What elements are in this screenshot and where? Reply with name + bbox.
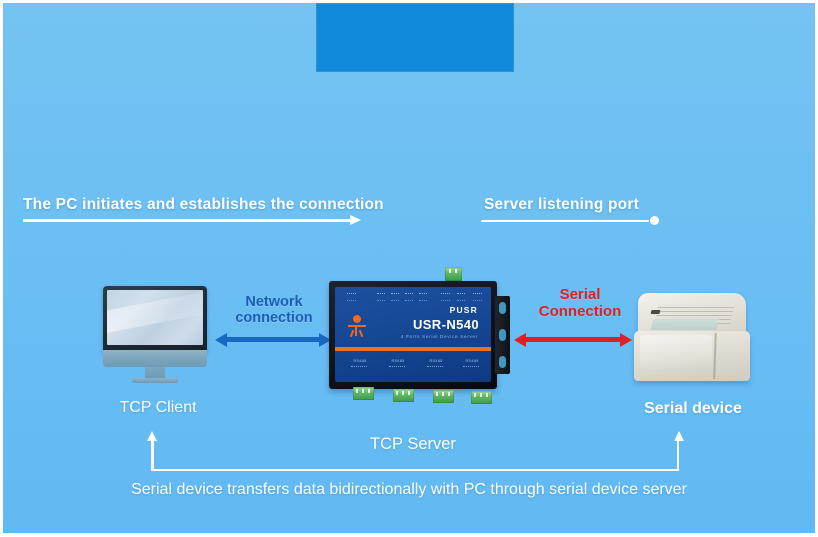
network-label-line2: connection	[219, 310, 329, 326]
annotation-pc-initiates: The PC initiates and establishes the con…	[23, 196, 384, 214]
led-group-5	[419, 293, 427, 301]
line-shaft	[481, 220, 649, 223]
pusr-logo-body-icon	[348, 324, 366, 336]
serial-bidirectional-arrow-icon	[514, 333, 632, 347]
led-group-7	[457, 293, 465, 301]
bracket-right-arrow-head	[674, 431, 684, 441]
led-group-2	[377, 293, 385, 301]
led-group-1	[347, 293, 356, 301]
network-connection-label: Network connection	[219, 294, 329, 326]
tcp-server-span-bracket-icon	[150, 431, 680, 471]
terminal-connector-top	[445, 267, 462, 281]
monitor-screen	[107, 290, 203, 345]
monitor-stand-base	[132, 378, 178, 383]
serial-device-server: PUSR USR-N540 4 Ports Serial Device Serv…	[325, 265, 511, 403]
led-group-3	[391, 293, 399, 301]
pc-monitor-icon	[103, 286, 207, 383]
port-led-3	[427, 366, 443, 371]
terminal-connector-2	[393, 389, 414, 402]
terminal-connector-1	[353, 387, 374, 400]
led-group-4	[405, 293, 413, 301]
terminal-connector-4	[471, 391, 492, 404]
annotation-server-listening-port: Server listening port	[484, 196, 639, 214]
bracket-horizontal-bar	[151, 469, 679, 472]
network-bidirectional-arrow-icon	[215, 333, 331, 347]
endpoint-dot-icon	[650, 216, 659, 225]
terminal-connector-3	[433, 390, 454, 403]
pusr-logo-head-icon	[353, 315, 361, 323]
printer-body	[634, 331, 750, 381]
port-label-2: RS485	[385, 359, 411, 363]
monitor-bezel	[103, 286, 207, 352]
led-group-6	[441, 293, 450, 301]
device-front-panel: PUSR USR-N540 4 Ports Serial Device Serv…	[335, 287, 491, 382]
diagram-canvas: The PC initiates and establishes the con…	[3, 3, 815, 533]
network-label-line1: Network	[219, 294, 329, 310]
arrow-head-right	[620, 333, 632, 347]
arrow-shaft	[226, 337, 320, 342]
device-mounting-bracket	[495, 296, 510, 374]
serial-label-line1: Serial	[515, 286, 645, 303]
led-group-8	[473, 293, 482, 301]
device-accent-stripe	[335, 347, 491, 351]
port-led-1	[351, 366, 367, 371]
annotation-pc-arrow-icon	[23, 216, 361, 226]
monitor-chin	[103, 350, 207, 367]
label-serial-device: Serial device	[631, 400, 755, 418]
printer-feed-button	[651, 310, 661, 314]
serial-label-line2: Connection	[515, 303, 645, 320]
port-led-4	[463, 366, 479, 371]
serial-connection-label: Serial Connection	[515, 286, 645, 320]
port-label-3: RS485	[423, 359, 449, 363]
printer-window	[650, 319, 719, 330]
serial-printer-icon	[634, 293, 750, 381]
port-label-4: RS485	[459, 359, 485, 363]
device-model: USR-N540	[413, 317, 479, 332]
arrow-shaft	[525, 337, 621, 342]
top-banner-block	[316, 3, 514, 72]
device-subtitle: 4 Ports Serial Device Server	[401, 334, 478, 339]
status-led-row	[341, 291, 485, 301]
arrow-head-right	[350, 215, 361, 225]
port-label-1: RS485	[347, 359, 373, 363]
port-led-2	[389, 366, 405, 371]
label-tcp-client: TCP Client	[113, 399, 203, 417]
diagram-root: The PC initiates and establishes the con…	[0, 0, 818, 537]
arrow-shaft	[23, 219, 353, 222]
diagram-caption: Serial device transfers data bidirection…	[3, 481, 815, 499]
bracket-left-arrow-head	[147, 431, 157, 441]
device-brand: PUSR	[450, 305, 478, 315]
annotation-port-line-icon	[481, 216, 659, 226]
